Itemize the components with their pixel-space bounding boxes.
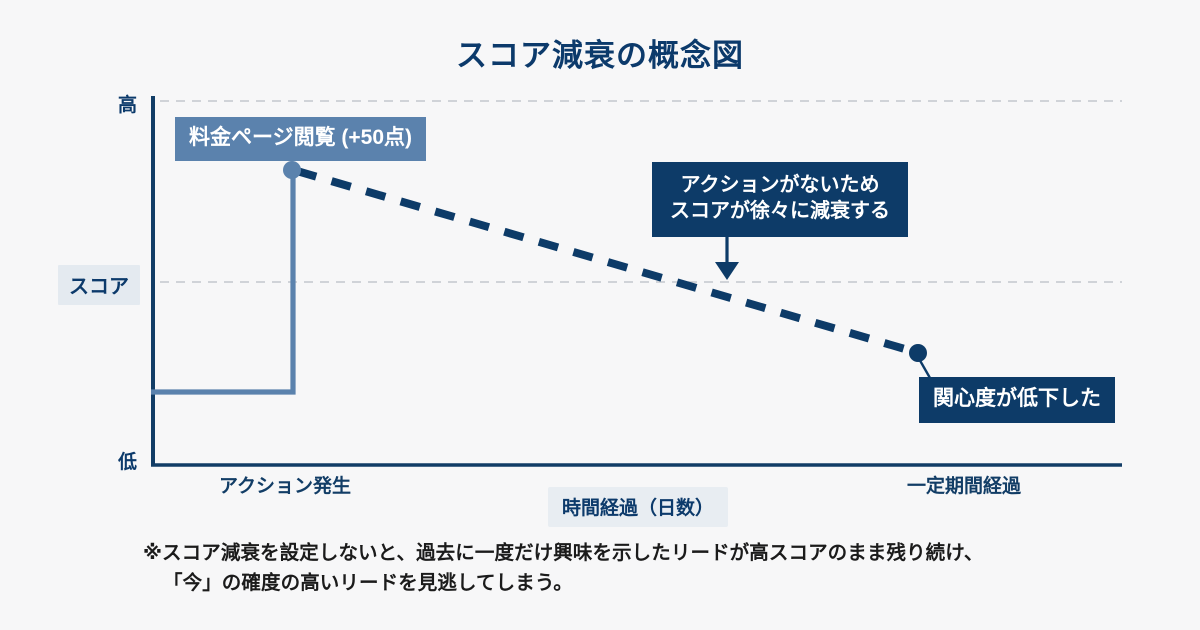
annotation-action-label: 料金ページ閲覧 (+50点) [175,117,426,161]
interest-leader-line [918,357,930,378]
annotation-decay-line2: スコアが徐々に減衰する [670,200,890,222]
footnote: ※スコア減衰を設定しないと、過去に一度だけ興味を示したリードが高スコアのまま残り… [143,538,1163,598]
x-axis-tick-action: アクション発生 [219,471,351,498]
x-axis-title: 時間経過（日数） [548,487,728,527]
series-base-step [151,172,293,392]
annotation-decay-line1: アクションがないため [681,174,880,196]
annotation-interest-label: 関心度が低下した [919,377,1115,423]
x-axis-tick-period: 一定期間経過 [907,471,1021,498]
y-axis-title: スコア [58,265,140,305]
y-axis-tick-low: 低 [118,447,137,474]
data-point-action [283,161,301,179]
data-point-decayed [909,344,927,362]
y-axis-tick-high: 高 [118,90,137,117]
footnote-line-2: 「今」の確度の高いリードを見逃してしまう。 [143,568,1163,598]
page-title: スコア減衰の概念図 [0,30,1200,75]
chart-page: スコア減衰の概念図 高 低 スコア アクション発生 一定期間経過 時間経過（日数… [0,0,1200,630]
annotation-decay-label: アクションがないため スコアが徐々に減衰する [652,162,908,237]
decay-arrow-head [715,262,739,280]
chart-canvas [0,0,1200,630]
footnote-line-1: ※スコア減衰を設定しないと、過去に一度だけ興味を示したリードが高スコアのまま残り… [143,542,984,564]
